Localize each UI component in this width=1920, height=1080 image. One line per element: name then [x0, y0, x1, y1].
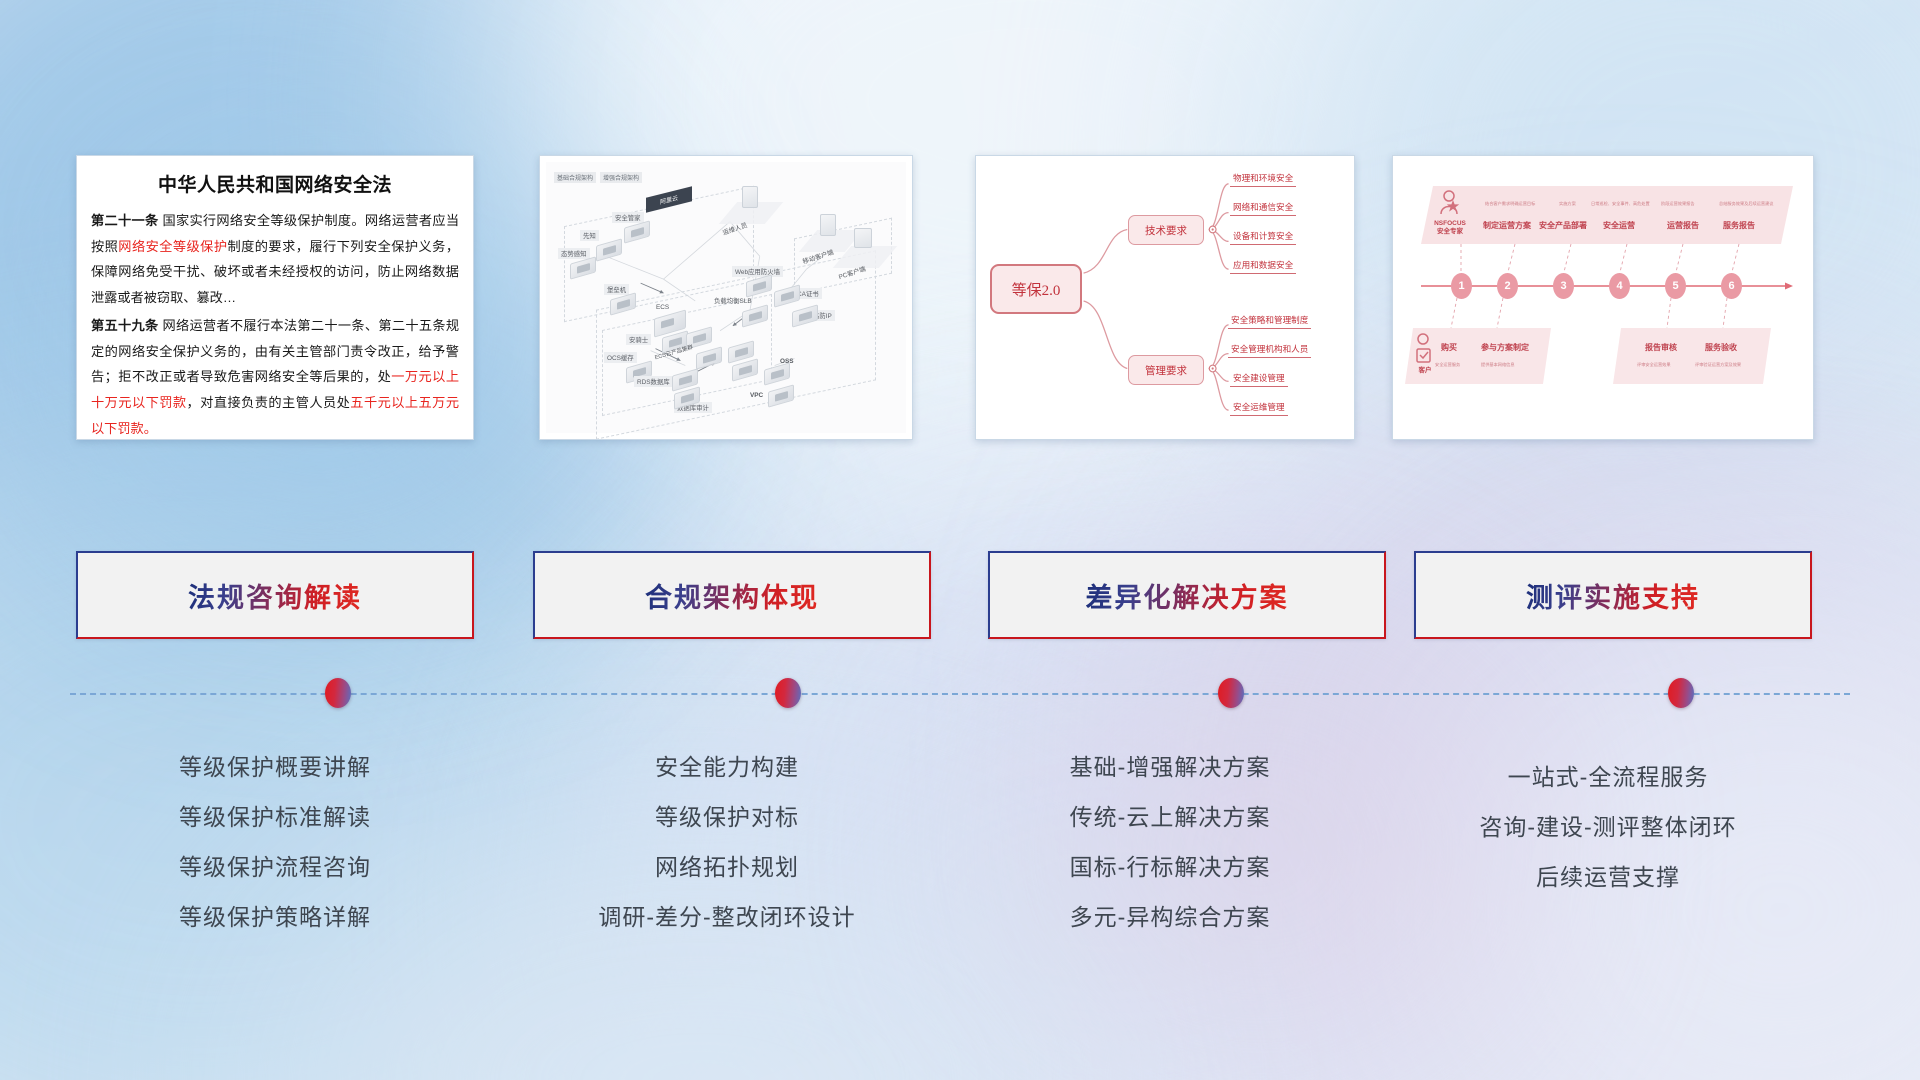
list-item: 多元-异构综合方案	[970, 892, 1370, 942]
mindmap-leaf-network: 网络和通信安全	[1230, 201, 1296, 216]
list-item: 等级保护对标	[527, 792, 927, 842]
timeline-dot-1	[325, 678, 351, 708]
section-header-label: 差异化解决方案	[1086, 576, 1289, 615]
law-article-59: 第五十九条 网络运营者不履行本法第二十一条、第二十五条规定的网络安全保护义务的，…	[91, 313, 459, 440]
timeline-dot-4	[1668, 678, 1694, 708]
section-header-label: 测评实施支持	[1526, 576, 1700, 615]
article-59-text-2: ，对直接负责的主管人员处	[187, 395, 351, 410]
list-item: 传统-云上解决方案	[970, 792, 1370, 842]
card-service-timeline: NSFOCUS安全专家 客户 结合客户需求明确运营目标 制定运营方案 实施方案 …	[1392, 155, 1814, 440]
law-title: 中华人民共和国网络安全法	[77, 170, 473, 197]
timeline-role-expert: NSFOCUS安全专家	[1419, 220, 1481, 236]
timeline-top-sub-3: 日常巡检、安全事件、高危处置	[1591, 201, 1650, 207]
arch-tab-enhanced[interactable]: 增强合规架构	[600, 172, 642, 183]
mindmap-branch-management: 管理要求	[1128, 355, 1204, 385]
arch-label-vpc: VPC	[750, 392, 763, 399]
feature-list-assessment-support: 一站式-全流程服务 咨询-建设-测评整体闭环 后续运营支撑	[1408, 752, 1808, 902]
card-law-document: 中华人民共和国网络安全法 第二十一条 国家实行网络安全等级保护制度。网络运营者应…	[76, 155, 474, 440]
timeline-dot-3	[1218, 678, 1244, 708]
arch-label-xianzhi: 先知	[580, 230, 599, 241]
list-item: 调研-差分-整改闭环设计	[527, 892, 927, 942]
section-header-differentiated-solution[interactable]: 差异化解决方案	[988, 551, 1386, 639]
timeline-bottom-sub-2: 提供基本网络信息	[1481, 362, 1515, 368]
timeline-bottom-sub-1: 安全运营服务	[1435, 362, 1460, 368]
section-header-assessment-support[interactable]: 测评实施支持	[1414, 551, 1812, 639]
list-item: 一站式-全流程服务	[1408, 752, 1808, 802]
arch-label-slb: 负载均衡SLB	[714, 296, 752, 305]
card-architecture-diagram: 基础合规架构 增强合规架构 阿里云 安全管家 先知 态势感知 堡垒机 ECS 安…	[539, 155, 913, 440]
arch-label-ocs: OCS缓存	[604, 352, 637, 363]
timeline-top-title-2: 安全产品部署	[1539, 220, 1587, 231]
timeline-connector	[70, 693, 1850, 695]
timeline-top-title-3: 安全运营	[1603, 220, 1635, 231]
timeline-step-number-5: 5	[1665, 273, 1686, 299]
law-body: 第二十一条 国家实行网络安全等级保护制度。网络运营者应当按照网络安全等级保护制度…	[77, 208, 473, 440]
timeline-bottom-title-2: 参与方案制定	[1481, 342, 1529, 353]
list-item: 网络拓扑规划	[527, 842, 927, 892]
mindmap-leaf-ops: 安全运维管理	[1230, 401, 1288, 416]
architecture-canvas: 基础合规架构 增强合规架构 阿里云 安全管家 先知 态势感知 堡垒机 ECS 安…	[546, 162, 906, 433]
timeline-top-sub-2: 实施方案	[1559, 201, 1576, 207]
mindmap-leaf-org: 安全管理机构和人员	[1228, 343, 1311, 358]
timeline-top-sub-5: 总结服务效果及后续运营建议	[1719, 201, 1773, 207]
timeline-top-title-4: 运营报告	[1667, 220, 1699, 231]
article-21-label: 第二十一条	[91, 213, 158, 228]
list-item: 等级保护流程咨询	[75, 842, 475, 892]
feature-list-compliance-architecture: 安全能力构建 等级保护对标 网络拓扑规划 调研-差分-整改闭环设计	[527, 742, 927, 942]
section-header-label: 法规咨询解读	[188, 576, 362, 615]
arch-label-waf: Web应用防火墙	[732, 266, 783, 277]
mindmap-leaf-build: 安全建设管理	[1230, 372, 1288, 387]
mindmap-root-node: 等保2.0	[990, 264, 1082, 314]
mindmap-leaf-physical: 物理和环境安全	[1230, 172, 1296, 187]
timeline-step-number-1: 1	[1451, 273, 1472, 299]
list-item: 国标-行标解决方案	[970, 842, 1370, 892]
law-article-21: 第二十一条 国家实行网络安全等级保护制度。网络运营者应当按照网络安全等级保护制度…	[91, 208, 459, 311]
timeline-bottom-sub-4: 评审验证运营方案及效果	[1695, 362, 1741, 368]
arch-label-bastion: 堡垒机	[604, 284, 629, 295]
service-timeline-canvas: NSFOCUS安全专家 客户 结合客户需求明确运营目标 制定运营方案 实施方案 …	[1393, 156, 1813, 439]
timeline-bottom-title-4: 服务验收	[1705, 342, 1737, 353]
list-item: 后续运营支撑	[1408, 852, 1808, 902]
mindmap-leaf-device: 设备和计算安全	[1230, 230, 1296, 245]
timeline-step-number-6: 6	[1721, 273, 1742, 299]
list-item: 等级保护策略详解	[75, 892, 475, 942]
arch-label-safe-butler: 安全管家	[612, 212, 644, 223]
arch-label-ecs: ECS	[656, 304, 669, 311]
mindmap-leaf-application: 应用和数据安全	[1230, 259, 1296, 274]
timeline-bottom-sub-3: 评审安全运营效果	[1637, 362, 1671, 368]
section-header-label: 合规架构体现	[645, 576, 819, 615]
mindmap-leaf-policy: 安全策略和管理制度	[1228, 314, 1311, 329]
list-item: 基础-增强解决方案	[970, 742, 1370, 792]
arch-label-rds: RDS数据库	[634, 376, 673, 387]
arch-tab-basic[interactable]: 基础合规架构	[554, 172, 596, 183]
timeline-bottom-title-3: 报告审核	[1645, 342, 1677, 353]
timeline-step-number-3: 3	[1553, 273, 1574, 299]
timeline-bottom-title-1: 购买	[1441, 342, 1457, 353]
list-item: 等级保护概要讲解	[75, 742, 475, 792]
article-59-label: 第五十九条	[91, 318, 158, 333]
list-item: 等级保护标准解读	[75, 792, 475, 842]
timeline-top-sub-4: 阶段运营效果报告	[1661, 201, 1695, 207]
feature-list-differentiated-solution: 基础-增强解决方案 传统-云上解决方案 国标-行标解决方案 多元-异构综合方案	[970, 742, 1370, 942]
section-header-regulation-consulting[interactable]: 法规咨询解读	[76, 551, 474, 639]
list-item: 咨询-建设-测评整体闭环	[1408, 802, 1808, 852]
timeline-step-number-4: 4	[1609, 273, 1630, 299]
feature-list-regulation-consulting: 等级保护概要讲解 等级保护标准解读 等级保护流程咨询 等级保护策略详解	[75, 742, 475, 942]
arch-label-situational: 态势感知	[558, 248, 590, 259]
article-21-highlight: 网络安全等级保护	[118, 239, 227, 254]
timeline-dot-2	[775, 678, 801, 708]
mindmap-branch-technical: 技术要求	[1128, 215, 1204, 245]
card-mindmap: 等保2.0 技术要求 物理和环境安全 网络和通信安全 设备和计算安全 应用和数据…	[975, 155, 1355, 440]
arch-label-anqishi: 安骑士	[626, 334, 651, 345]
timeline-top-sub-1: 结合客户需求明确运营目标	[1485, 201, 1535, 207]
list-item: 安全能力构建	[527, 742, 927, 792]
mindmap-canvas: 等保2.0 技术要求 物理和环境安全 网络和通信安全 设备和计算安全 应用和数据…	[976, 156, 1354, 439]
timeline-top-title-1: 制定运营方案	[1483, 220, 1531, 231]
timeline-step-number-2: 2	[1497, 273, 1518, 299]
section-header-compliance-architecture[interactable]: 合规架构体现	[533, 551, 931, 639]
timeline-top-title-5: 服务报告	[1723, 220, 1755, 231]
